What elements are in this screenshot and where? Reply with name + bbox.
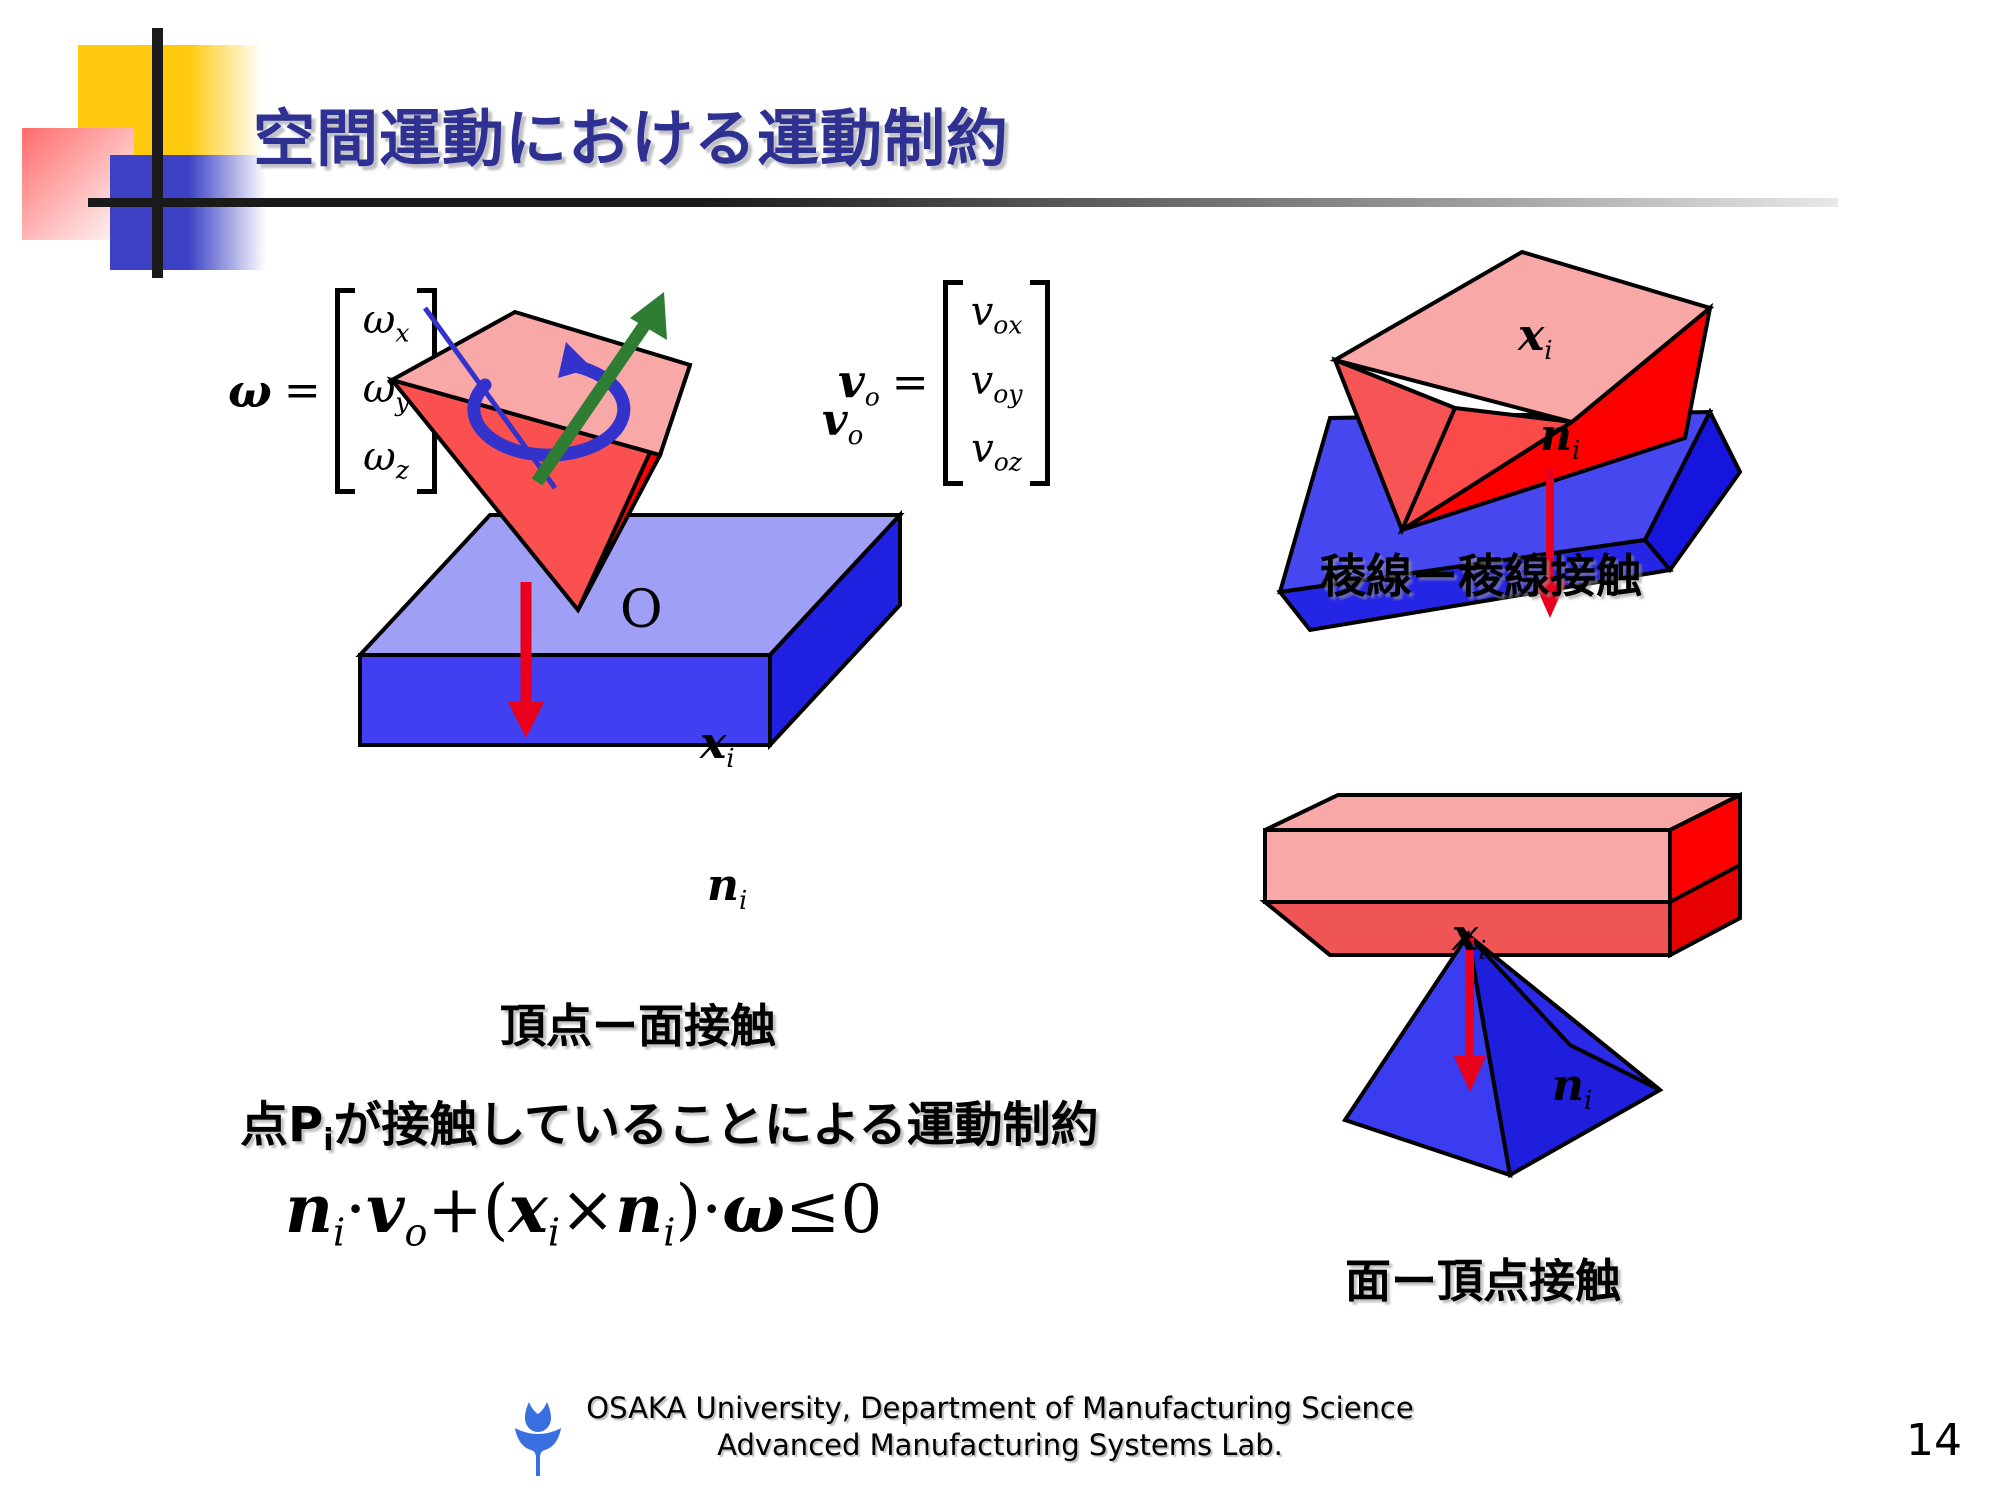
- constraint-heading: 点Piが接触していることによる運動制約: [240, 1085, 1099, 1158]
- normal-label-edge: ni: [1540, 410, 1580, 466]
- ornament-vertical-line: [152, 28, 163, 278]
- eq-cross: ×: [560, 1171, 615, 1248]
- position-label-edge-sub: i: [1544, 336, 1552, 366]
- eq-v: v: [366, 1170, 404, 1248]
- normal-label-main: ni: [707, 860, 747, 916]
- normal-label-base: n: [707, 860, 739, 911]
- face-vertex-contact-figure: [1230, 790, 1810, 1240]
- omega-symbol: ω: [228, 364, 272, 418]
- normal-label-edge-sub: i: [1572, 436, 1580, 466]
- position-label-main: xi: [700, 718, 735, 774]
- position-label-sub: i: [726, 744, 734, 774]
- ornament-blue-block: [110, 155, 188, 270]
- position-label-edge: xi: [1518, 310, 1553, 366]
- eq-x-sub: i: [548, 1210, 560, 1254]
- footer-line-2: Advanced Manufacturing Systems Lab.: [0, 1427, 2000, 1464]
- ornament-horizontal-rule: [88, 198, 1838, 207]
- velocity-label-vo: vo: [822, 395, 863, 451]
- position-label-base: x: [700, 718, 726, 769]
- red-slab-top-face: [1265, 795, 1740, 830]
- eq-n1: n: [285, 1170, 333, 1248]
- normal-label-face-sub: i: [1584, 1086, 1592, 1116]
- eq-paren-open: (: [483, 1171, 509, 1248]
- constraint-equation: ni·vo+(xi×ni)·ω≤0: [285, 1170, 882, 1254]
- caption-vertex-face: 頂点ー面接触: [500, 990, 776, 1056]
- constraint-heading-pre: 点P: [240, 1097, 323, 1153]
- position-label-face-base: x: [1452, 910, 1478, 961]
- eq-dot1: ·: [345, 1171, 366, 1248]
- velocity-label-sub: o: [848, 421, 864, 451]
- normal-label-face-base: n: [1552, 1060, 1584, 1111]
- page-title: 空間運動における運動制約: [253, 88, 1009, 178]
- page-number: 14: [1906, 1415, 1962, 1466]
- velocity-label-base: v: [822, 395, 848, 446]
- footer-line-1: OSAKA University, Department of Manufact…: [0, 1390, 2000, 1427]
- position-label-face-sub: i: [1478, 936, 1486, 966]
- caption-face-vertex: 面ー頂点接触: [1345, 1245, 1621, 1311]
- origin-label: O: [620, 580, 663, 640]
- position-label-edge-base: x: [1518, 310, 1544, 361]
- constraint-heading-post: が接触していることによる運動制約: [333, 1097, 1098, 1153]
- eq-v-sub: o: [405, 1210, 428, 1254]
- eq-n2-sub: i: [663, 1210, 675, 1254]
- ornament-yellow-fade: [188, 45, 263, 155]
- slide-root: 空間運動における運動制約 ω = ωx ωy ωz vo = vox: [0, 0, 2000, 1500]
- eq-paren-close: ): [675, 1171, 701, 1248]
- position-label-face: xi: [1452, 910, 1487, 966]
- eq-plus: +: [427, 1171, 482, 1248]
- eq-n1-sub: i: [333, 1210, 345, 1254]
- eq-leq: ≤: [785, 1171, 840, 1248]
- eq-x: x: [508, 1170, 547, 1248]
- eq-zero: 0: [840, 1171, 882, 1248]
- eq-dot2: ·: [701, 1171, 722, 1248]
- vertex-face-contact-figure: [330, 270, 1010, 990]
- eq-n2: n: [615, 1170, 663, 1248]
- eq-omega: ω: [722, 1170, 785, 1248]
- constraint-heading-sub: i: [323, 1123, 333, 1158]
- caption-edge-edge: 稜線ー稜線接触: [1320, 540, 1642, 606]
- normal-label-sub: i: [739, 886, 747, 916]
- omega-equals: =: [284, 365, 321, 416]
- footer: OSAKA University, Department of Manufact…: [0, 1390, 2000, 1464]
- red-slab-top-inner: [1265, 830, 1670, 902]
- normal-label-edge-base: n: [1540, 410, 1572, 461]
- normal-label-face: ni: [1552, 1060, 1592, 1116]
